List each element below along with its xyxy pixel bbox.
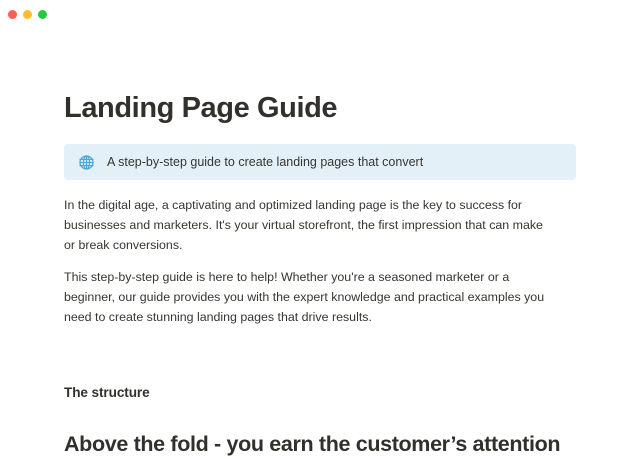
window-titlebar bbox=[0, 0, 640, 28]
callout-box[interactable]: A step-by-step guide to create landing p… bbox=[64, 144, 576, 180]
callout-text: A step-by-step guide to create landing p… bbox=[107, 153, 423, 171]
maximize-window-button[interactable] bbox=[38, 10, 47, 19]
window-controls bbox=[8, 10, 47, 19]
page-title[interactable]: Landing Page Guide bbox=[64, 28, 576, 125]
app-window: Landing Page Guide A step-by-step guide … bbox=[0, 0, 640, 400]
section-title-above-the-fold[interactable]: Above the fold - you earn the customer’s… bbox=[64, 401, 576, 459]
section-label-the-structure[interactable]: The structure bbox=[64, 327, 576, 402]
globe-icon bbox=[78, 154, 95, 171]
paragraph-guide[interactable]: This step-by-step guide is here to help!… bbox=[64, 256, 550, 327]
document-content: Landing Page Guide A step-by-step guide … bbox=[0, 28, 640, 459]
minimize-window-button[interactable] bbox=[23, 10, 32, 19]
paragraph-intro[interactable]: In the digital age, a captivating and op… bbox=[64, 180, 550, 255]
close-window-button[interactable] bbox=[8, 10, 17, 19]
